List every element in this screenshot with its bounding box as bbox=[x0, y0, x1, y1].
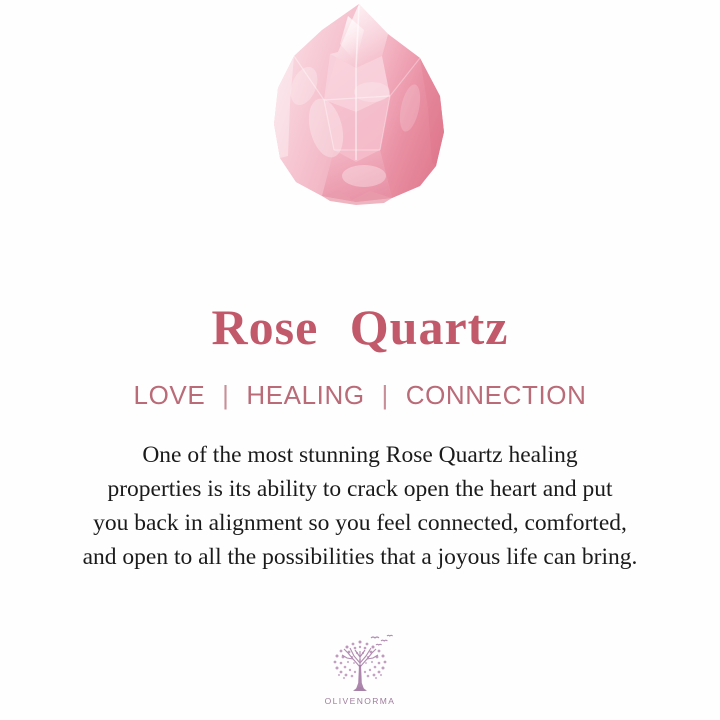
keyword-separator-2: | bbox=[373, 380, 398, 410]
brand-name: OLIVENORMA bbox=[325, 696, 396, 706]
description-line: One of the most stunning Rose Quartz hea… bbox=[26, 438, 694, 472]
page-title: Rose Quartz bbox=[212, 302, 509, 352]
description-text: One of the most stunning Rose Quartz hea… bbox=[26, 438, 694, 574]
keyword-connection: CONNECTION bbox=[406, 380, 587, 410]
keyword-healing: HEALING bbox=[246, 380, 364, 410]
description-line: you back in alignment so you feel connec… bbox=[26, 506, 694, 540]
birds-icon bbox=[371, 635, 393, 645]
rose-quartz-crystal-image bbox=[260, 0, 460, 215]
keyword-separator-1: | bbox=[213, 380, 238, 410]
keyword-love: LOVE bbox=[134, 380, 206, 410]
rose-quartz-info-card: Rose Quartz LOVE | HEALING | CONNECTION … bbox=[0, 0, 720, 720]
description-line: and open to all the possibilities that a… bbox=[26, 540, 694, 574]
brand-logo: OLIVENORMA bbox=[0, 633, 720, 706]
tree-of-life-icon bbox=[324, 633, 396, 695]
hero-image-container bbox=[0, 0, 720, 268]
keyword-subtitle: LOVE | HEALING | CONNECTION bbox=[134, 380, 587, 411]
description-line: properties is its ability to crack open … bbox=[26, 472, 694, 506]
